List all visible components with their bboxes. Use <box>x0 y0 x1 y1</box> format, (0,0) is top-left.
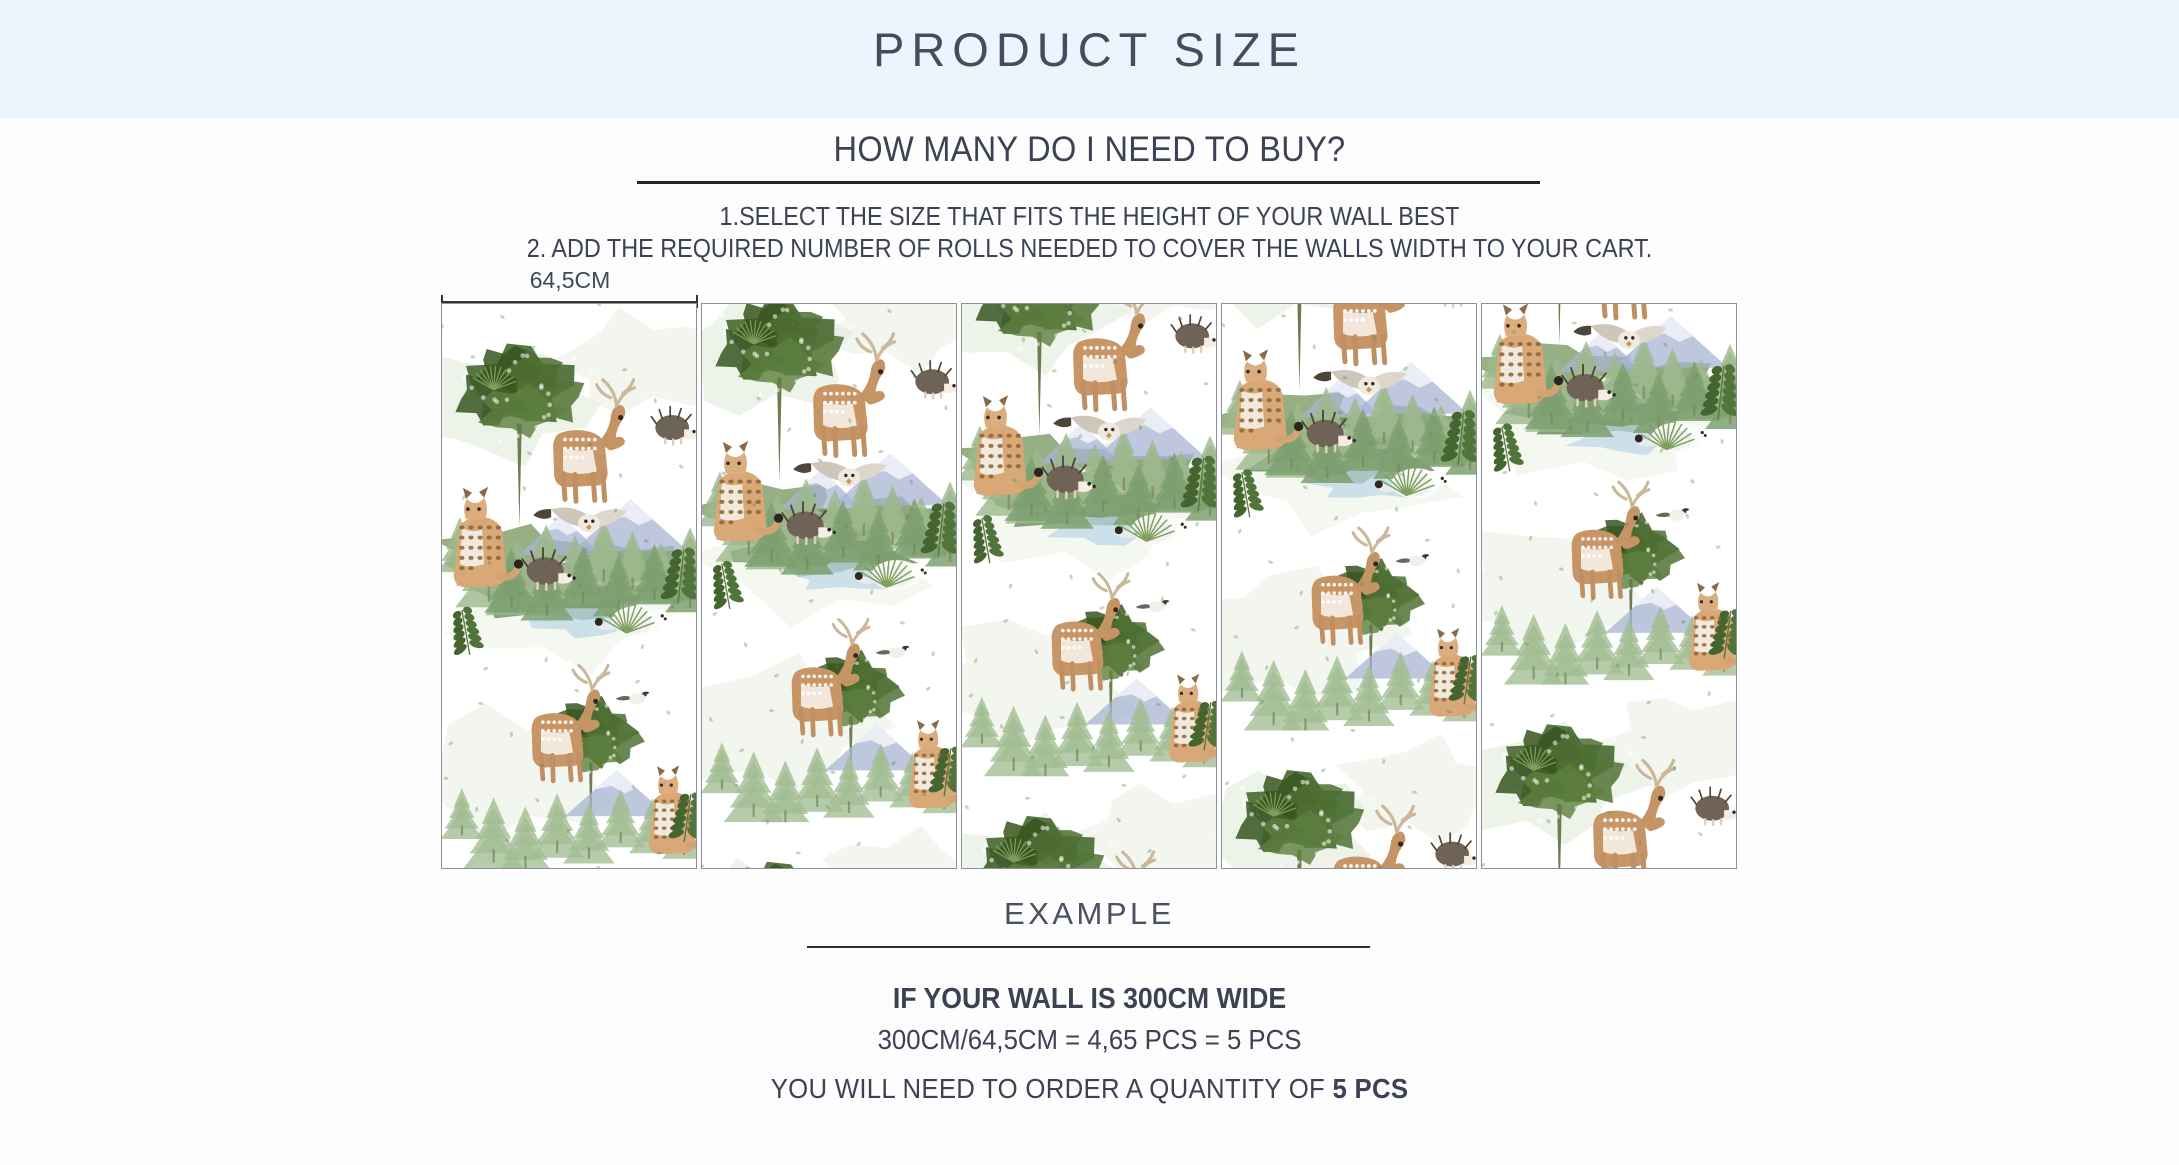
example-calculation: 300CM/64,5CM = 4,65 PCS = 5 PCS <box>87 1024 2092 1056</box>
wallpaper-panel-4[interactable] <box>1221 303 1477 869</box>
example-wall-width: IF YOUR WALL IS 300CM WIDE <box>87 983 2092 1016</box>
example-title: EXAMPLE <box>0 896 2179 932</box>
section-heading: HOW MANY DO I NEED TO BUY? <box>76 130 2102 170</box>
wallpaper-panel-3[interactable] <box>961 303 1217 869</box>
wallpaper-panel-5[interactable] <box>1481 303 1737 869</box>
example-order-quantity: YOU WILL NEED TO ORDER A QUANTITY OF 5 P… <box>87 1073 2092 1105</box>
example-divider <box>807 946 1370 948</box>
product-size-page: PRODUCT SIZE HOW MANY DO I NEED TO BUY? … <box>0 0 2179 1165</box>
instruction-line-2: 2. ADD THE REQUIRED NUMBER OF ROLLS NEED… <box>109 233 2070 264</box>
roll-width-label: 64,5CM <box>441 267 699 294</box>
order-prefix: YOU WILL NEED TO ORDER A QUANTITY OF <box>771 1073 1333 1104</box>
heading-divider <box>637 181 1540 184</box>
order-quantity-value: 5 PCS <box>1332 1073 1408 1104</box>
instruction-line-1: 1.SELECT THE SIZE THAT FITS THE HEIGHT O… <box>109 201 2070 232</box>
wallpaper-panel-2[interactable] <box>701 303 957 869</box>
wallpaper-panel-1[interactable] <box>441 303 697 869</box>
page-title: PRODUCT SIZE <box>0 22 2179 77</box>
header-band: PRODUCT SIZE <box>0 0 2179 118</box>
wallpaper-panel-strip <box>441 303 1738 869</box>
